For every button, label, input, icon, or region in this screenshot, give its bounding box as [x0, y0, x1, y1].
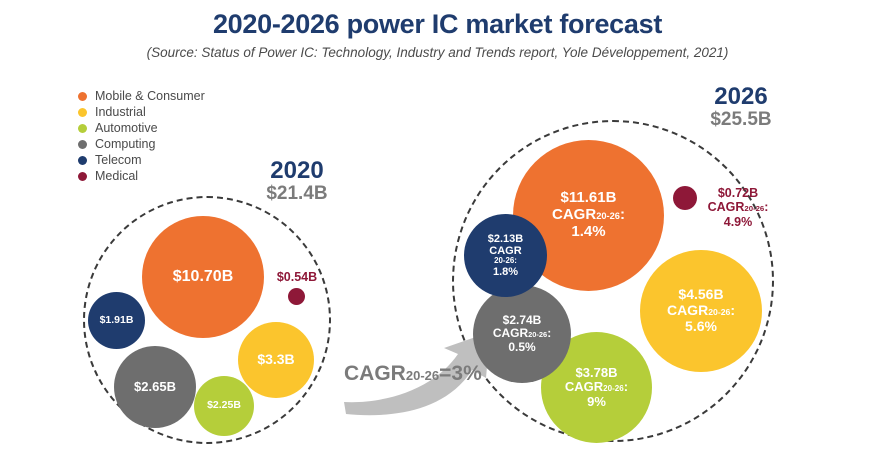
cagr-subscript: 20-26 — [528, 330, 547, 339]
cagr-prefix: CAGR — [344, 362, 406, 385]
legend-item-telecom: Telecom — [78, 152, 205, 168]
bubble-value: $10.70B — [173, 268, 234, 286]
cagr-subscript: 20-26 — [596, 211, 620, 221]
legend-dot-icon — [78, 156, 87, 165]
legend-dot-icon — [78, 92, 87, 101]
bubble-cagr-value: 1.8% — [493, 266, 518, 278]
cagr-prefix: CAGR — [552, 206, 596, 223]
legend-dot-icon — [78, 172, 87, 181]
bubble-cagr-value: 9% — [587, 395, 606, 410]
cagr-value: =3% — [439, 362, 482, 385]
bubble-value: $3.78B — [576, 366, 618, 381]
legend-dot-icon — [78, 124, 87, 133]
cagr-prefix: CAGR — [493, 326, 528, 340]
bubble-2020-medical[interactable] — [288, 288, 305, 305]
legend-item-medical: Medical — [78, 168, 205, 184]
bubble-cagr: CAGR20-26: — [565, 380, 628, 395]
total-value-2020: $21.4B — [232, 183, 362, 205]
bubble-2020-industrial[interactable]: $3.3B — [238, 322, 314, 398]
year-label-2026: 2026 — [666, 84, 816, 109]
page-subtitle: (Source: Status of Power IC: Technology,… — [0, 45, 875, 60]
bubble-2020-automotive[interactable]: $2.25B — [194, 376, 254, 436]
bubble-value: $2.13B — [488, 233, 523, 245]
bubble-value: $0.54B — [277, 270, 317, 284]
cagr-colon: : — [764, 200, 768, 214]
bubble-2020-mobile-consumer[interactable]: $10.70B — [142, 216, 264, 338]
legend-dot-icon — [78, 108, 87, 117]
bubble-value: $2.25B — [207, 400, 241, 412]
bubble-2026-telecom[interactable]: $2.13B CAGR 20-26: 1.8% — [464, 214, 547, 297]
cagr-colon: : — [624, 379, 628, 394]
bubble-value: $4.56B — [678, 287, 723, 303]
bubble-2026-medical-label: $0.72B CAGR20-26: 4.9% — [694, 186, 782, 229]
bubble-cagr-sub: 20-26: — [494, 257, 517, 266]
bubble-2026-industrial[interactable]: $4.56B CAGR20-26: 5.6% — [640, 250, 762, 372]
cagr-subscript: 20-26 — [494, 256, 514, 265]
legend-label: Automotive — [95, 121, 158, 135]
cagr-colon: : — [730, 302, 735, 318]
cagr-prefix: CAGR — [667, 302, 708, 318]
bubble-value: $0.72B — [718, 186, 758, 200]
bubble-cagr-value: 4.9% — [724, 215, 753, 229]
legend-label: Industrial — [95, 105, 146, 119]
legend-item-mobile-consumer: Mobile & Consumer — [78, 88, 205, 104]
bubble-2020-medical-label: $0.54B — [264, 270, 330, 284]
bubble-value: $2.65B — [134, 380, 176, 395]
bubble-cagr: CAGR20-26: — [667, 303, 735, 319]
cagr-subscript: 20-26 — [603, 384, 624, 393]
legend-item-computing: Computing — [78, 136, 205, 152]
cagr-colon: : — [547, 326, 551, 340]
bubble-2026-computing[interactable]: $2.74B CAGR20-26: 0.5% — [473, 285, 571, 383]
bubble-cagr-value: 5.6% — [685, 319, 717, 335]
bubble-value: $11.61B — [561, 190, 617, 207]
bubble-2020-telecom[interactable]: $1.91B — [88, 292, 145, 349]
cluster-heading-2026: 2026 $25.5B — [666, 84, 816, 131]
page-title: 2020-2026 power IC market forecast — [0, 9, 875, 40]
legend-label: Telecom — [95, 153, 142, 167]
cagr-colon: : — [620, 206, 625, 223]
cagr-subscript: 20-26 — [406, 368, 439, 383]
bubble-cagr: CAGR20-26: — [708, 200, 769, 214]
cagr-subscript: 20-26 — [744, 204, 764, 213]
legend-label: Computing — [95, 137, 155, 151]
total-value-2026: $25.5B — [666, 109, 816, 131]
cluster-heading-2020: 2020 $21.4B — [232, 158, 362, 205]
bubble-value: $1.91B — [100, 315, 134, 327]
bubble-cagr: CAGR20-26: — [552, 207, 625, 224]
cagr-prefix: CAGR — [565, 379, 603, 394]
legend-item-automotive: Automotive — [78, 120, 205, 136]
bubble-2020-computing[interactable]: $2.65B — [114, 346, 196, 428]
infographic-canvas: 2020-2026 power IC market forecast (Sour… — [0, 0, 875, 463]
overall-cagr-label: CAGR20-26=3% — [344, 362, 482, 386]
bubble-value: $2.74B — [503, 314, 542, 327]
year-label-2020: 2020 — [232, 158, 362, 183]
cagr-colon: : — [514, 256, 517, 265]
cagr-prefix: CAGR — [708, 200, 745, 214]
bubble-cagr-value: 0.5% — [508, 341, 535, 354]
legend-label: Mobile & Consumer — [95, 89, 205, 103]
bubble-value: $3.3B — [257, 352, 294, 368]
legend-label: Medical — [95, 169, 138, 183]
legend-item-industrial: Industrial — [78, 104, 205, 120]
legend-dot-icon — [78, 140, 87, 149]
cagr-subscript: 20-26 — [708, 307, 730, 317]
bubble-cagr: CAGR20-26: — [493, 327, 551, 340]
bubble-cagr-value: 1.4% — [571, 224, 605, 241]
legend: Mobile & Consumer Industrial Automotive … — [78, 88, 205, 184]
